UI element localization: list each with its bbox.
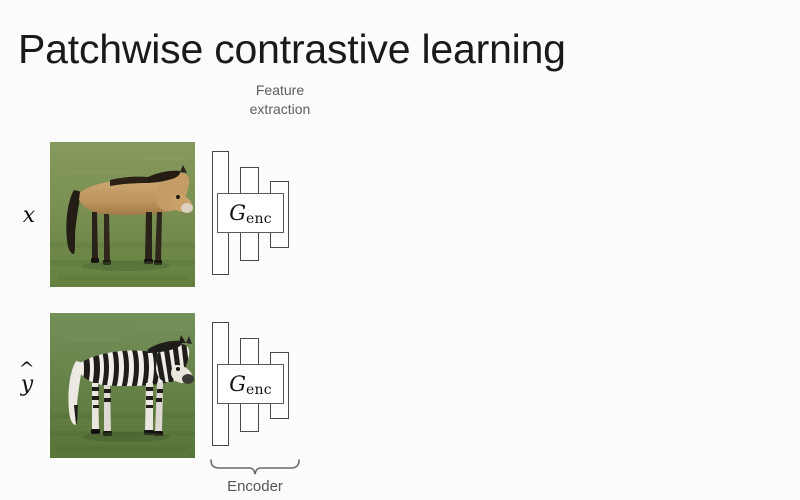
page-title: Patchwise contrastive learning — [18, 27, 566, 72]
y-hat-wrap: ^ y — [21, 372, 33, 397]
encoder-bottom: Genc — [205, 316, 305, 451]
encoder-label-text: Genc — [229, 374, 272, 395]
encoder-label-main: G — [229, 201, 246, 225]
encoder-label-subscript: enc — [246, 211, 272, 227]
hat-accent-icon: ^ — [19, 360, 35, 379]
encoder-brace-icon — [209, 459, 301, 476]
output-label-y-hat: ^ y — [10, 372, 44, 397]
feature-extraction-line-2: extraction — [212, 100, 348, 119]
encoder-caption: Encoder — [205, 478, 305, 496]
feature-extraction-caption: Feature extraction — [212, 81, 348, 118]
encoder-label-text: Genc — [229, 203, 272, 224]
encoder-top: Genc — [205, 145, 305, 280]
encoder-label-main: G — [229, 372, 246, 396]
slide-canvas: Patchwise contrastive learning Feature e… — [0, 0, 800, 500]
input-label-x: x — [12, 203, 46, 228]
encoder-label-subscript: enc — [246, 382, 272, 398]
zebra-photo — [50, 313, 195, 458]
horse-photo — [50, 142, 195, 287]
feature-extraction-line-1: Feature — [212, 81, 348, 100]
encoder-label-box: Genc — [217, 193, 284, 233]
encoder-label-box: Genc — [217, 364, 284, 404]
